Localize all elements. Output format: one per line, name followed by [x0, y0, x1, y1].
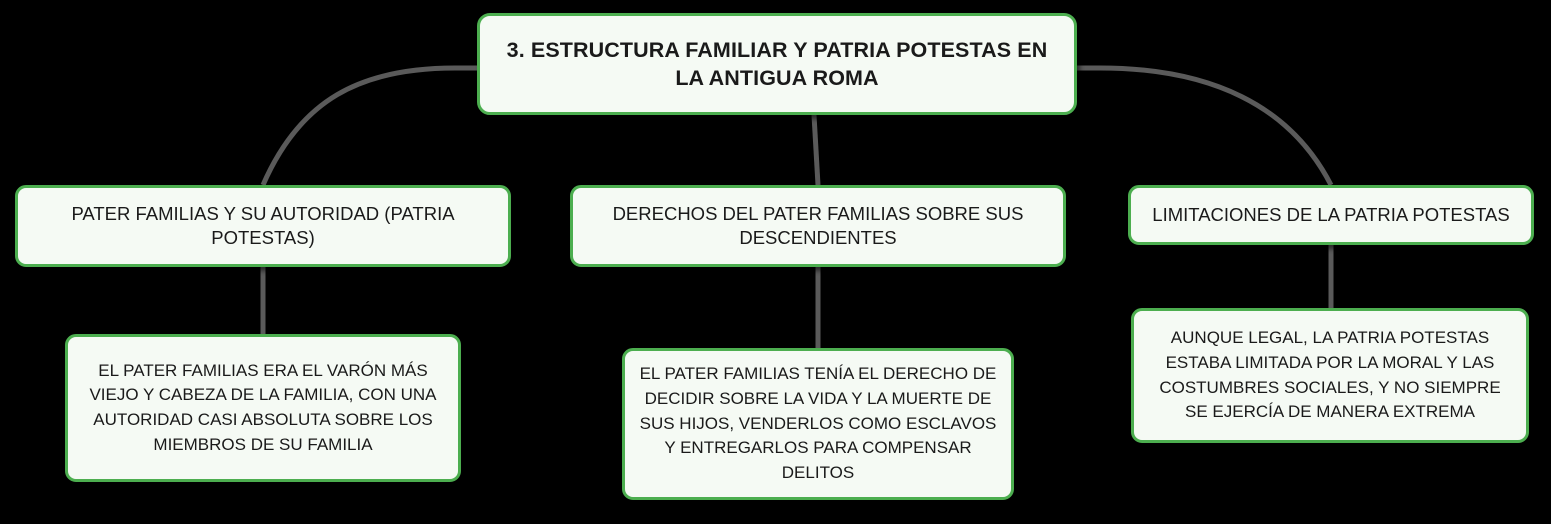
mindmap-root-label: 3. ESTRUCTURA FAMILIAR Y PATRIA POTESTAS…	[480, 36, 1074, 93]
connector-root-to-branch-2	[1077, 68, 1331, 185]
mindmap-leaf-node-limitada-moral-costumbres[interactable]: AUNQUE LEGAL, LA PATRIA POTESTAS ESTABA …	[1131, 308, 1529, 443]
mindmap-branch-node-limitaciones[interactable]: LIMITACIONES DE LA PATRIA POTESTAS	[1128, 185, 1534, 245]
mindmap-leaf-label: AUNQUE LEGAL, LA PATRIA POTESTAS ESTABA …	[1134, 326, 1526, 425]
connector-root-to-branch-0	[263, 68, 477, 185]
mindmap-branch-label: LIMITACIONES DE LA PATRIA POTESTAS	[1131, 203, 1531, 227]
mindmap-leaf-label: EL PATER FAMILIAS TENÍA EL DERECHO DE DE…	[625, 362, 1011, 485]
connector-root-to-branch-1	[814, 115, 818, 185]
mindmap-branch-label: DERECHOS DEL PATER FAMILIAS SOBRE SUS DE…	[573, 202, 1063, 251]
mindmap-branch-node-pater-familias-autoridad[interactable]: PATER FAMILIAS Y SU AUTORIDAD (PATRIA PO…	[15, 185, 511, 267]
mindmap-leaf-node-derecho-vida-muerte[interactable]: EL PATER FAMILIAS TENÍA EL DERECHO DE DE…	[622, 348, 1014, 500]
mindmap-leaf-label: EL PATER FAMILIAS ERA EL VARÓN MÁS VIEJO…	[68, 359, 458, 458]
mindmap-leaf-node-pater-familias-varon[interactable]: EL PATER FAMILIAS ERA EL VARÓN MÁS VIEJO…	[65, 334, 461, 482]
mindmap-branch-node-derechos-descendientes[interactable]: DERECHOS DEL PATER FAMILIAS SOBRE SUS DE…	[570, 185, 1066, 267]
mindmap-canvas: 3. ESTRUCTURA FAMILIAR Y PATRIA POTESTAS…	[0, 0, 1551, 524]
mindmap-branch-label: PATER FAMILIAS Y SU AUTORIDAD (PATRIA PO…	[18, 202, 508, 251]
mindmap-root-node[interactable]: 3. ESTRUCTURA FAMILIAR Y PATRIA POTESTAS…	[477, 13, 1077, 115]
